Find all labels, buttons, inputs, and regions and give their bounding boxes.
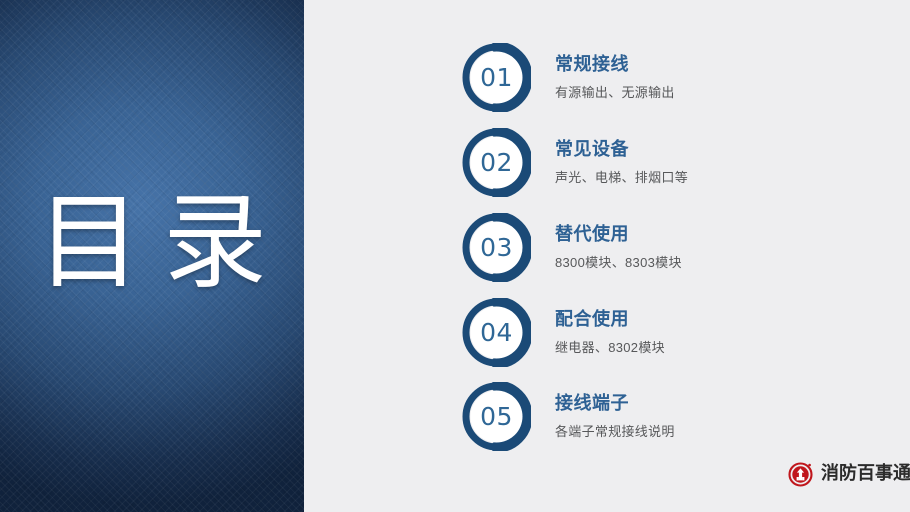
fire-safety-circle-arrow-icon [788, 461, 814, 487]
list-item-title: 替代使用 [555, 222, 892, 246]
title-panel: 目录 [0, 0, 304, 512]
badge-number: 04 [462, 298, 531, 367]
number-badge: 04 [462, 298, 531, 367]
brand-name: 消防百事通 [821, 461, 910, 487]
badge-number: 05 [462, 382, 531, 451]
list-item[interactable]: 05 接线端子 各端子常规接线说明 [462, 376, 892, 456]
number-badge: 03 [462, 213, 531, 282]
list-item-text: 常规接线 有源输出、无源输出 [555, 52, 892, 102]
list-item-text: 替代使用 8300模块、8303模块 [555, 222, 892, 272]
page-title: 目录 [0, 186, 304, 298]
list-item-subtitle: 继电器、8302模块 [555, 339, 892, 357]
badge-number: 01 [462, 43, 531, 112]
list-item[interactable]: 02 常见设备 声光、电梯、排烟口等 [462, 122, 892, 202]
presentation-slide: 目录 01 常规接线 有源输出、无源输出 [0, 0, 910, 512]
list-item-title: 接线端子 [555, 391, 892, 415]
badge-number: 02 [462, 128, 531, 197]
list-item[interactable]: 04 配合使用 继电器、8302模块 [462, 292, 892, 372]
table-of-contents: 01 常规接线 有源输出、无源输出 02 常见设备 声光、电梯、排烟口等 [304, 0, 910, 512]
list-item-title: 常见设备 [555, 137, 892, 161]
number-badge: 05 [462, 382, 531, 451]
brand-logo: 消防百事通 [788, 461, 910, 487]
list-item-title: 配合使用 [555, 307, 892, 331]
list-item-subtitle: 有源输出、无源输出 [555, 84, 892, 102]
list-item[interactable]: 03 替代使用 8300模块、8303模块 [462, 207, 892, 287]
list-item-text: 配合使用 继电器、8302模块 [555, 307, 892, 357]
list-item-text: 常见设备 声光、电梯、排烟口等 [555, 137, 892, 187]
list-item-text: 接线端子 各端子常规接线说明 [555, 391, 892, 441]
number-badge: 02 [462, 128, 531, 197]
list-item-subtitle: 8300模块、8303模块 [555, 254, 892, 272]
list-item[interactable]: 01 常规接线 有源输出、无源输出 [462, 37, 892, 117]
list-item-subtitle: 各端子常规接线说明 [555, 423, 892, 441]
list-item-subtitle: 声光、电梯、排烟口等 [555, 169, 892, 187]
list-item-title: 常规接线 [555, 52, 892, 76]
badge-number: 03 [462, 213, 531, 282]
number-badge: 01 [462, 43, 531, 112]
